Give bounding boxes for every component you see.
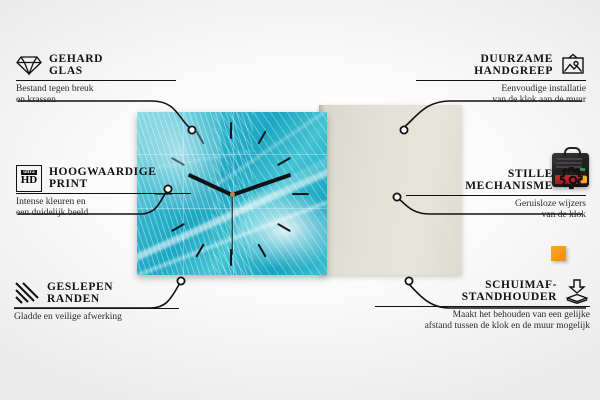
divider bbox=[16, 193, 191, 194]
hour-marker bbox=[230, 122, 232, 139]
feature-header: DUURZAME HANDGREEP bbox=[416, 52, 586, 78]
feature-desc-line2: van de klok aan de muur bbox=[416, 95, 586, 106]
divider bbox=[14, 308, 179, 309]
feature-header: ultra HD HOOGWAARDIGE PRINT bbox=[16, 165, 191, 191]
feature-title-line1: STILLE bbox=[465, 168, 553, 181]
foam-spacer bbox=[551, 246, 566, 261]
divider bbox=[406, 195, 586, 196]
feature-title-line2: STANDHOUDER bbox=[462, 291, 557, 304]
feature-desc-line1: Maakt het behouden van een gelijke bbox=[375, 310, 590, 321]
feature-stille-mechanisme: STILLE MECHANISME Geruisloze wijzers van… bbox=[406, 167, 586, 221]
framed-picture-icon bbox=[560, 52, 586, 78]
ultra-hd-icon: ultra HD bbox=[16, 165, 42, 191]
feature-desc-line2: en krassen bbox=[16, 95, 176, 106]
feature-title-line1: GEHARD bbox=[49, 53, 103, 66]
feature-gehard-glas: GEHARD GLAS Bestand tegen breuk en krass… bbox=[16, 52, 176, 106]
feature-header: GESLEPEN RANDEN bbox=[14, 280, 179, 306]
feature-desc-line1: Gladde en veilige afwerking bbox=[14, 312, 179, 323]
hatched-edge-icon bbox=[14, 280, 40, 306]
hour-marker bbox=[292, 193, 309, 195]
product-feature-infographic: GEHARD GLAS Bestand tegen breuk en krass… bbox=[0, 0, 600, 400]
feature-duurzame-handgreep: DUURZAME HANDGREEP Eenvoudige installati… bbox=[416, 52, 586, 106]
ultra-hd-icon-bottom: HD bbox=[21, 175, 38, 186]
feature-title-line2: PRINT bbox=[49, 178, 157, 191]
second-hand bbox=[231, 195, 232, 255]
feature-desc-line1: Bestand tegen breuk bbox=[16, 84, 176, 95]
feature-header: STILLE MECHANISME bbox=[406, 167, 586, 193]
feature-title-line1: SCHUIMAF- bbox=[462, 279, 557, 292]
feature-desc-line1: Eenvoudige installatie bbox=[416, 84, 586, 95]
feature-title-line1: DUURZAME bbox=[474, 53, 553, 66]
feature-geslepen-randen: GESLEPEN RANDEN Gladde en veilige afwerk… bbox=[14, 280, 179, 323]
feature-title-line1: HOOGWAARDIGE bbox=[49, 166, 157, 179]
feature-desc-line2: van de klok bbox=[406, 210, 586, 221]
press-pad-icon bbox=[564, 278, 590, 304]
feature-title-line2: MECHANISME bbox=[465, 180, 553, 193]
feature-desc-line2: een duidelijk beeld bbox=[16, 208, 191, 219]
feature-hoogwaardige-print: ultra HD HOOGWAARDIGE PRINT Intense kleu… bbox=[16, 165, 191, 219]
mechanism-hook-icon bbox=[564, 147, 581, 157]
divider bbox=[416, 80, 586, 81]
feature-title-line2: RANDEN bbox=[47, 293, 113, 306]
feature-desc-line1: Intense kleuren en bbox=[16, 197, 191, 208]
hand-centre-pin bbox=[230, 192, 235, 197]
feature-title-line1: GESLEPEN bbox=[47, 281, 113, 294]
feature-header: SCHUIMAF- STANDHOUDER bbox=[375, 278, 590, 304]
diamond-icon bbox=[16, 52, 42, 78]
feature-header: GEHARD GLAS bbox=[16, 52, 176, 78]
gear-icon bbox=[560, 167, 586, 193]
feature-schuimafstandhouder: SCHUIMAF- STANDHOUDER Maakt het behouden… bbox=[375, 278, 590, 332]
feature-title-line2: HANDGREEP bbox=[474, 65, 553, 78]
feature-title-line2: GLAS bbox=[49, 65, 103, 78]
feature-desc-line2: afstand tussen de klok en de muur mogeli… bbox=[375, 321, 590, 332]
divider bbox=[16, 80, 176, 81]
divider bbox=[375, 306, 590, 307]
feature-desc-line1: Geruisloze wijzers bbox=[406, 199, 586, 210]
glass-reflection-line bbox=[137, 154, 327, 155]
